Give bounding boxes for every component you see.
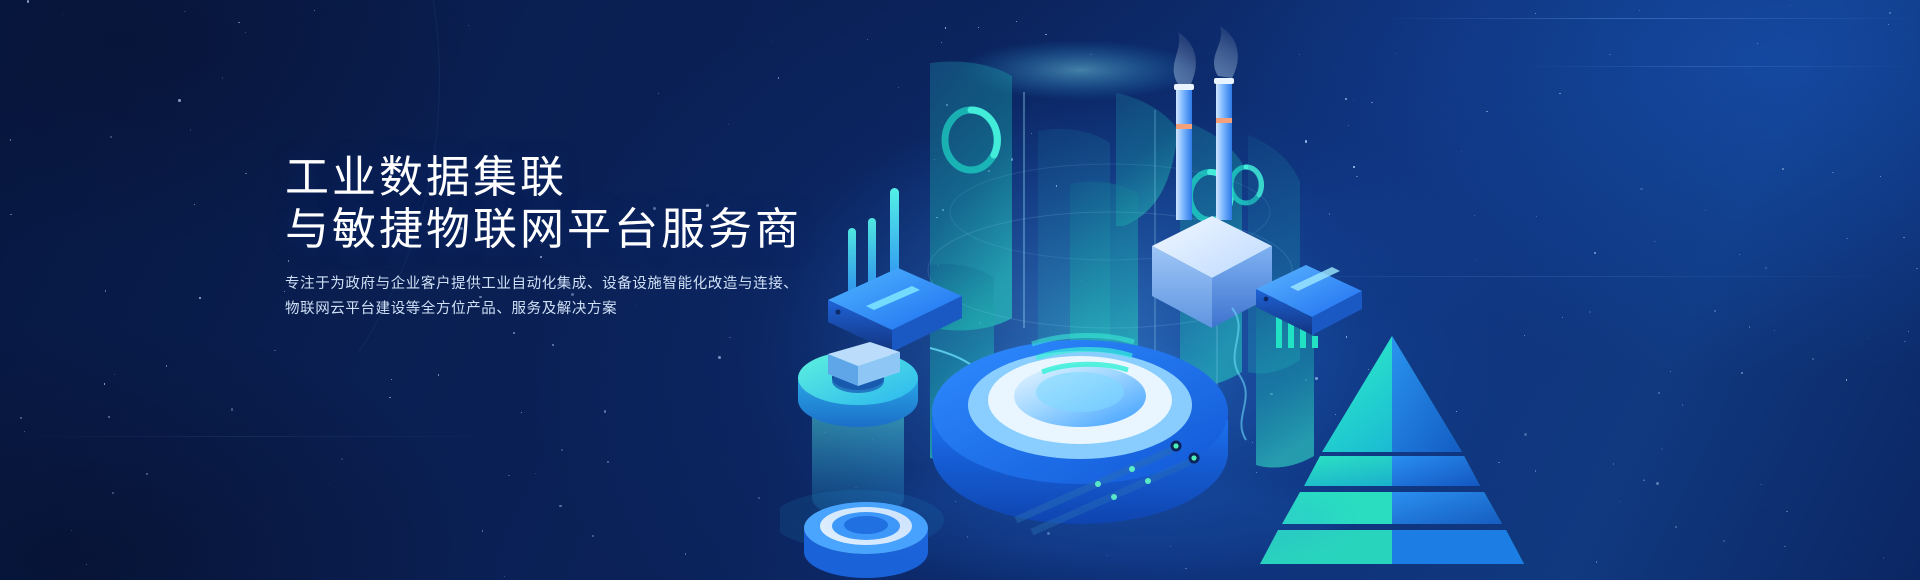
star <box>341 458 343 460</box>
star <box>535 473 536 474</box>
subtitle-line-1: 专注于为政府与企业客户提供工业自动化集成、设备设施智能化改造与连接、 <box>285 272 905 297</box>
star <box>504 576 505 577</box>
subtitle-line-2: 物联网云平台建设等全方位产品、服务及解决方案 <box>285 297 905 322</box>
star <box>729 337 730 338</box>
star <box>559 505 561 507</box>
star <box>389 397 390 398</box>
star <box>758 497 760 499</box>
star <box>391 379 392 380</box>
star <box>521 412 522 413</box>
smoke-plume-left <box>1174 32 1196 86</box>
star <box>685 553 686 554</box>
gateway-box-wrapper <box>1250 255 1370 345</box>
star <box>438 374 439 375</box>
star <box>718 356 721 359</box>
hero-copy: 工业数据集联 与敏捷物联网平台服务商 专注于为政府与企业客户提供工业自动化集成、… <box>285 152 905 322</box>
star <box>482 530 483 531</box>
star <box>658 93 659 94</box>
hero-banner: 工业数据集联 与敏捷物联网平台服务商 专注于为政府与企业客户提供工业自动化集成、… <box>0 0 1920 580</box>
star <box>508 475 509 476</box>
star <box>728 124 729 125</box>
star <box>604 410 606 412</box>
star <box>592 535 594 537</box>
star <box>778 77 779 78</box>
star <box>561 449 563 451</box>
star <box>329 484 330 485</box>
star <box>513 332 515 334</box>
star <box>86 564 87 565</box>
smoke-plume-right <box>1214 26 1238 78</box>
star <box>607 461 609 463</box>
subtitle: 专注于为政府与企业客户提供工业自动化集成、设备设施智能化改造与连接、 物联网云平… <box>285 272 905 322</box>
star <box>468 25 469 26</box>
headline-line-2: 与敏捷物联网平台服务商 <box>285 204 905 256</box>
star <box>552 344 553 345</box>
star <box>772 41 773 42</box>
headline-line-1: 工业数据集联 <box>285 152 905 204</box>
